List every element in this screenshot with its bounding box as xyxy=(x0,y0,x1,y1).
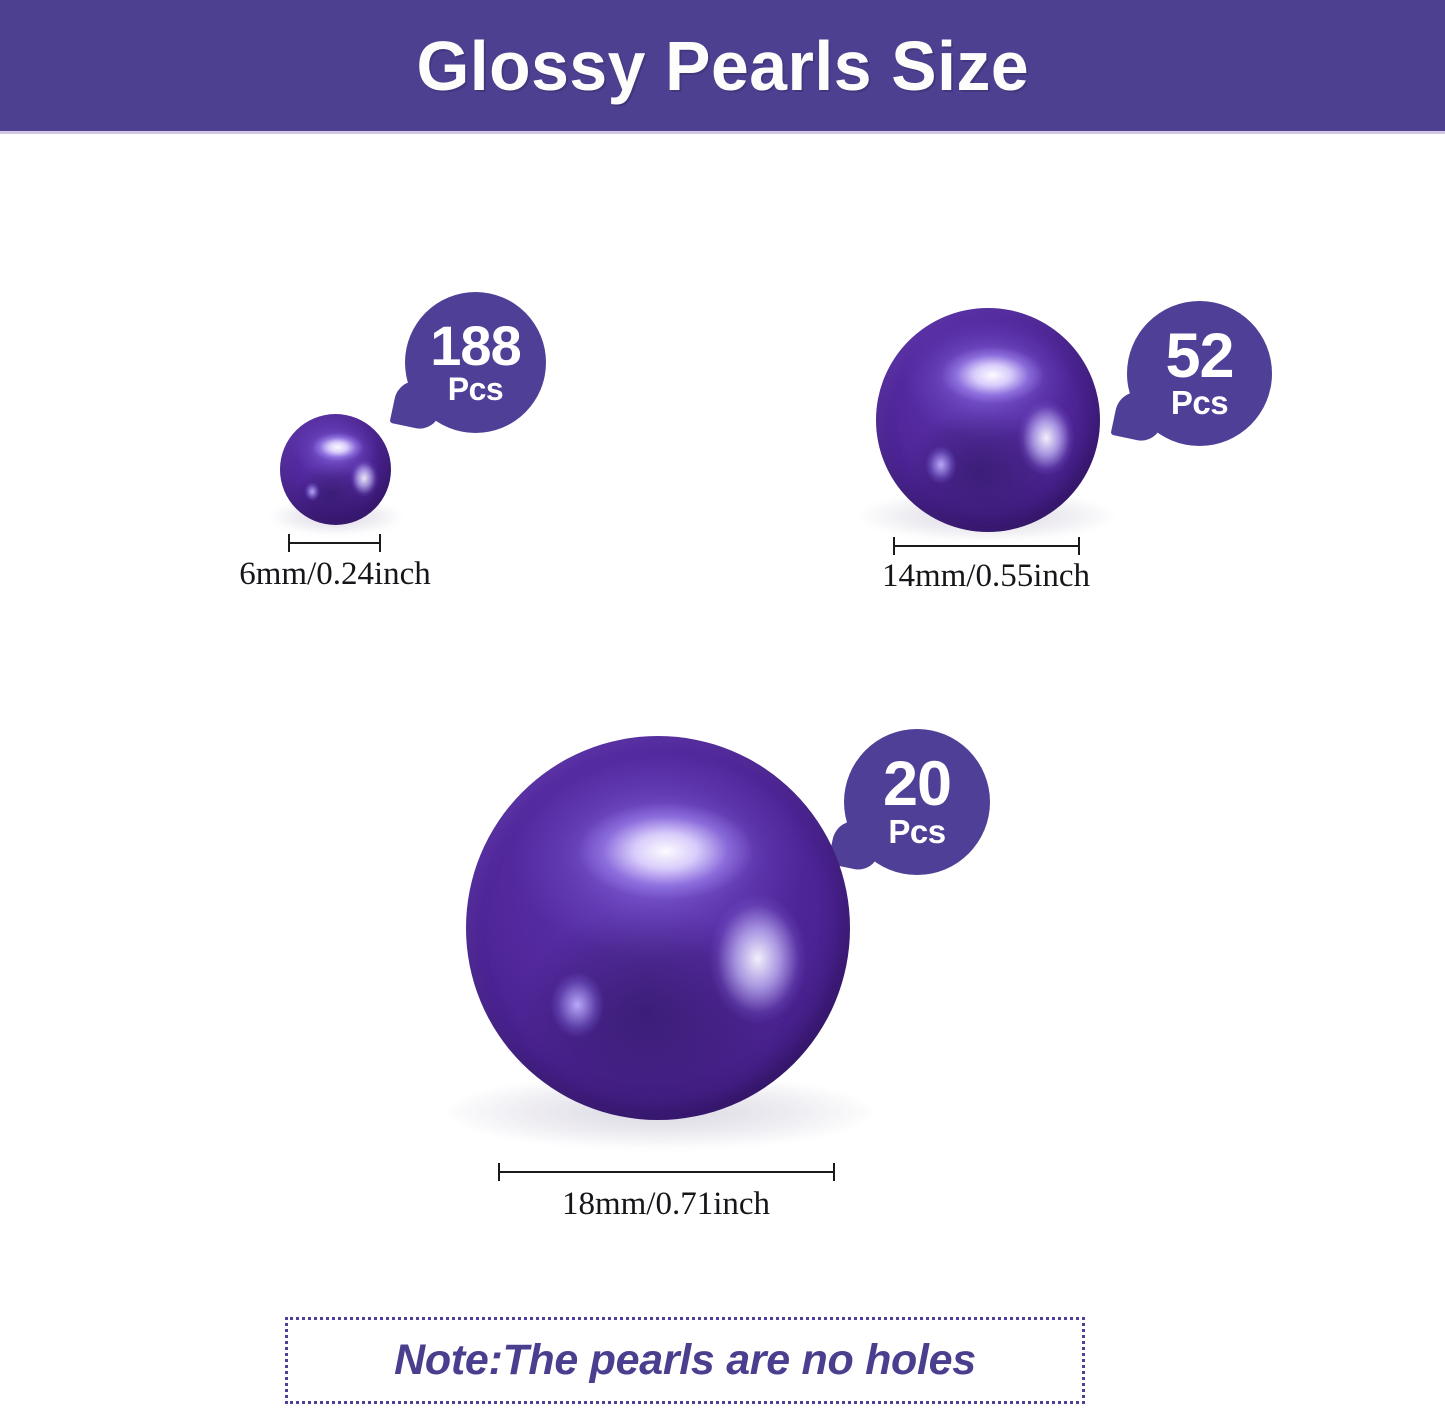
dimension-bar-large xyxy=(498,1171,835,1173)
count-bubble-unit-small: Pcs xyxy=(448,373,503,405)
count-bubble-unit-large: Pcs xyxy=(888,815,945,848)
count-bubble-number-large: 20 xyxy=(883,756,951,814)
note-box: Note:The pearls are no holes xyxy=(285,1317,1085,1404)
count-bubble-large: 20 Pcs xyxy=(844,729,990,875)
dimension-cap-right-large xyxy=(833,1163,835,1181)
pearl-image-medium xyxy=(876,308,1100,532)
dimension-cap-right-small xyxy=(379,534,381,552)
dimension-label-large: 18mm/0.71inch xyxy=(491,1186,841,1223)
dimension-bar-small xyxy=(288,542,381,544)
header-banner: Glossy Pearls Size xyxy=(0,0,1445,131)
page-title: Glossy Pearls Size xyxy=(416,31,1029,101)
dimension-line-medium xyxy=(893,537,1080,555)
count-bubble-number-small: 188 xyxy=(430,320,520,372)
count-bubble-unit-medium: Pcs xyxy=(1171,386,1228,419)
note-text: Note:The pearls are no holes xyxy=(394,1336,976,1385)
dimension-line-small xyxy=(288,534,381,552)
dimension-label-medium: 14mm/0.55inch xyxy=(811,558,1161,595)
dimension-label-small: 6mm/0.24inch xyxy=(160,556,510,593)
dimension-line-large xyxy=(498,1163,835,1181)
count-bubble-medium: 52 Pcs xyxy=(1127,301,1272,446)
dimension-bar-medium xyxy=(893,545,1080,547)
dimension-cap-right-medium xyxy=(1078,537,1080,555)
pearl-image-small xyxy=(280,414,391,525)
pearl-image-large xyxy=(466,736,850,1120)
header-divider xyxy=(0,131,1445,134)
count-bubble-number-medium: 52 xyxy=(1165,328,1233,386)
count-bubble-small: 188 Pcs xyxy=(405,292,546,433)
